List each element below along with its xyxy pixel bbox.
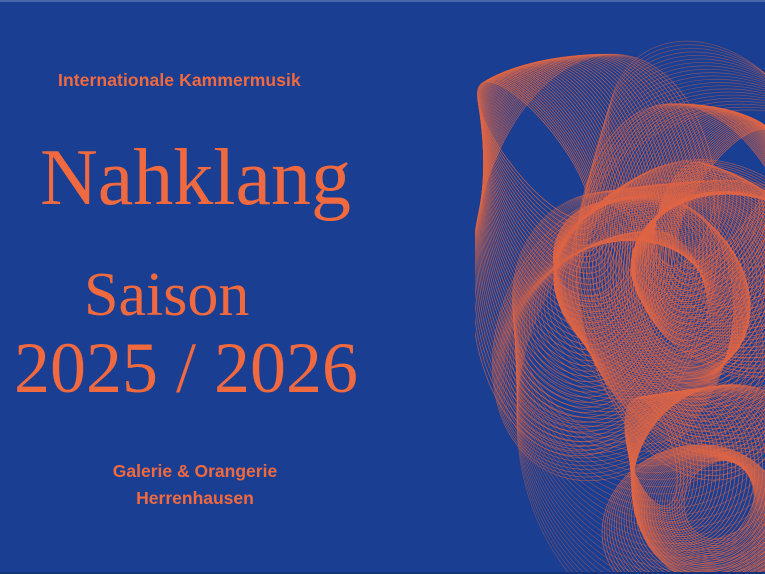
poster-subtitle: Internationale Kammermusik xyxy=(58,70,301,91)
venue-line-2: Herrenhausen xyxy=(0,485,390,512)
generative-line-art xyxy=(475,0,765,574)
line-art-svg xyxy=(475,0,765,574)
arc-families xyxy=(475,0,765,574)
season-label: Saison xyxy=(84,264,249,326)
venue-block: Galerie & Orangerie Herrenhausen xyxy=(0,458,390,512)
poster-canvas: Internationale Kammermusik Nahklang Sais… xyxy=(0,0,765,574)
top-edge-hairline xyxy=(0,0,765,2)
poster-title: Nahklang xyxy=(40,138,351,218)
season-years: 2025 / 2026 xyxy=(14,332,358,404)
venue-line-1: Galerie & Orangerie xyxy=(0,458,390,485)
text-column: Internationale Kammermusik Nahklang Sais… xyxy=(0,0,470,574)
